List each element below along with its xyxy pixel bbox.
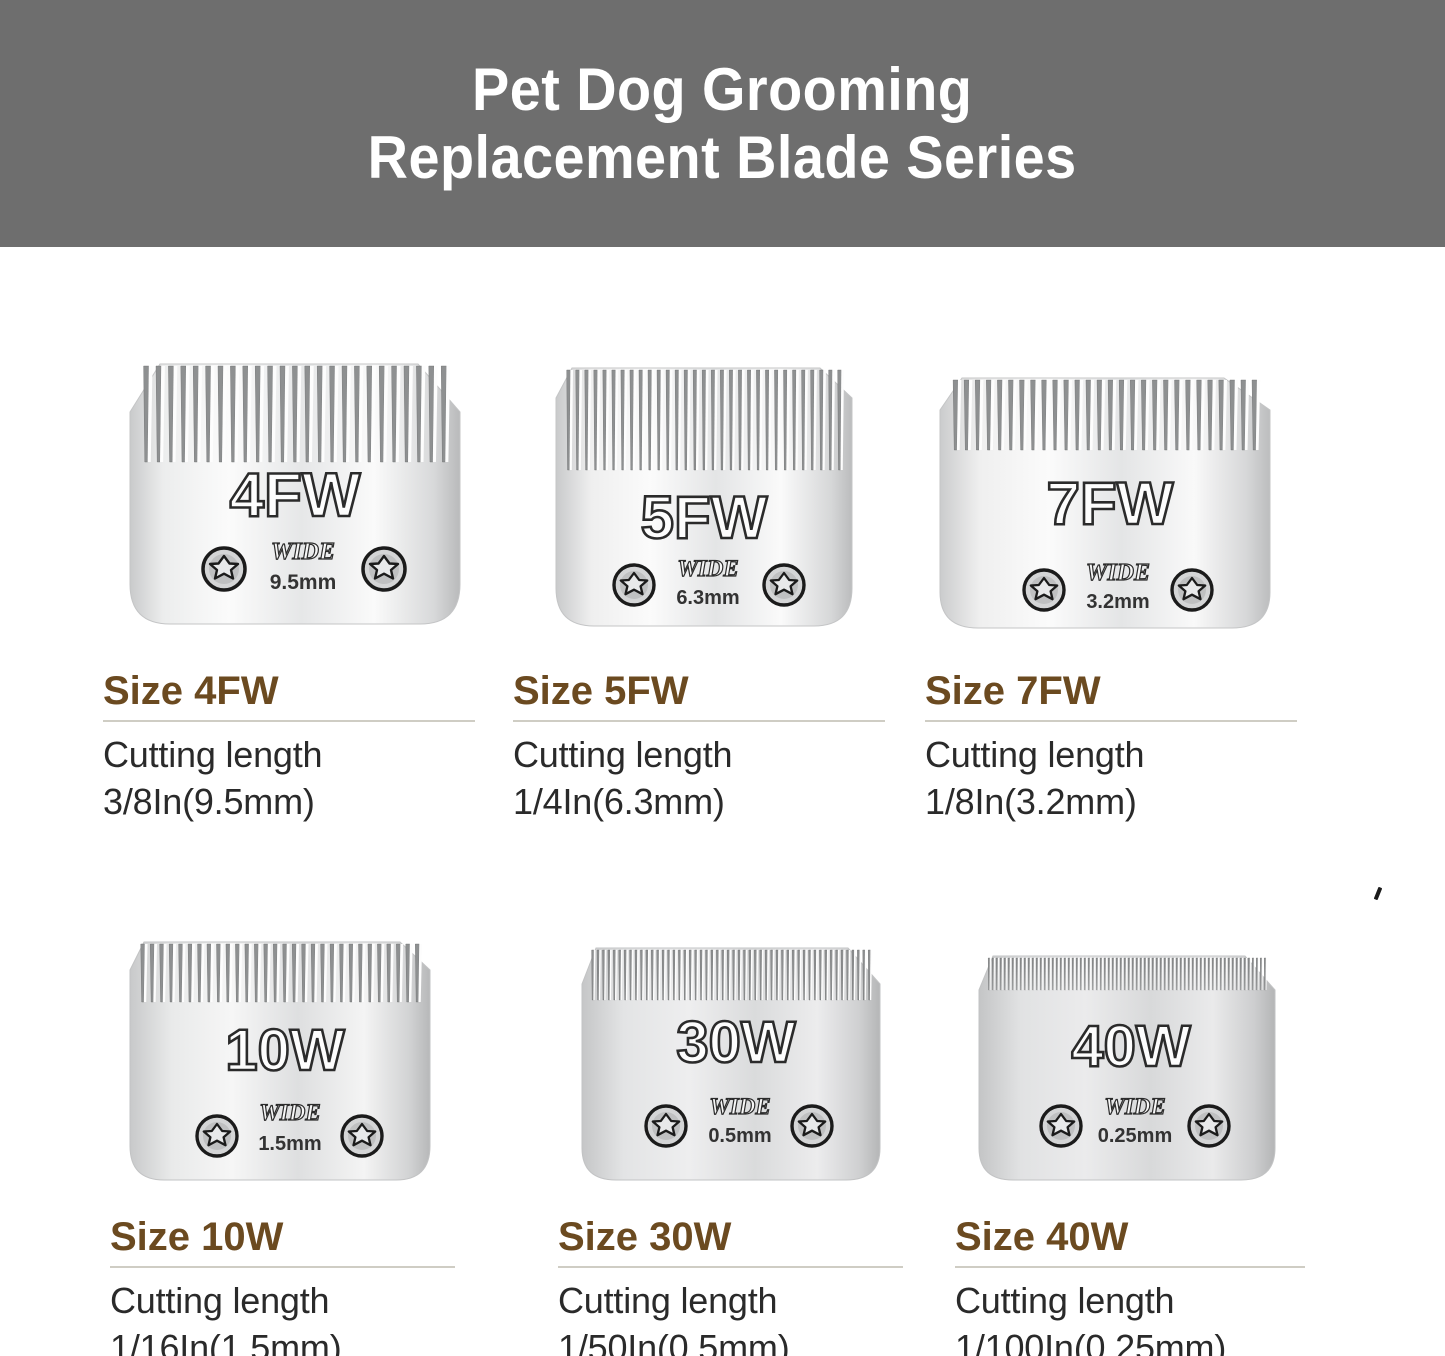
size-title-5fw: Size 5FW bbox=[513, 670, 885, 712]
product-cell-7fw[interactable]: 7FW WIDE 3.2mm Size 7FW bbox=[920, 352, 1320, 644]
blade-code-stamp-7fw: 7FW bbox=[1047, 470, 1174, 537]
product-cell-5fw[interactable]: 5FW WIDE 6.3mm Size 5FW bbox=[508, 352, 908, 644]
blade-illustration-7fw: 7FW WIDE 3.2mm bbox=[920, 352, 1310, 644]
mm-stamp-7fw: 3.2mm bbox=[1086, 591, 1149, 613]
cutting-length-label-30w: Cutting length bbox=[558, 1278, 903, 1325]
mm-stamp-10w: 1.5mm bbox=[258, 1133, 321, 1155]
blade-image-40w: 40W WIDE 0.25mm bbox=[945, 928, 1345, 1198]
caption-40w: Size 40W Cutting length 1/100In(0.25mm) bbox=[955, 1216, 1305, 1356]
blade-image-30w: 30W WIDE 0.5mm bbox=[548, 928, 948, 1198]
blade-code-stamp-30w: 30W bbox=[676, 1010, 796, 1075]
blade-illustration-40w: 40W WIDE 0.25mm bbox=[945, 928, 1325, 1198]
cutting-length-value-4fw: 3/8In(9.5mm) bbox=[103, 779, 475, 826]
screw-icon-right-10w bbox=[342, 1116, 382, 1156]
mm-stamp-4fw: 9.5mm bbox=[270, 571, 337, 594]
caption-rule bbox=[110, 1266, 455, 1268]
screw-icon-right-5fw bbox=[764, 565, 804, 605]
blade-image-10w: 10W WIDE 1.5mm bbox=[100, 928, 500, 1198]
cutting-length-label-5fw: Cutting length bbox=[513, 732, 885, 779]
screw-icon-right-40w bbox=[1189, 1106, 1229, 1146]
blade-illustration-4fw: 4FW WIDE 9.5mm bbox=[88, 352, 488, 644]
screw-icon-left-10w bbox=[197, 1116, 237, 1156]
cutting-length-label-40w: Cutting length bbox=[955, 1278, 1305, 1325]
caption-rule bbox=[103, 720, 475, 722]
product-cell-10w[interactable]: 10W WIDE 1.5mm Size 10W bbox=[100, 928, 500, 1198]
product-cell-40w[interactable]: 40W WIDE 0.25mm Size 40W bbox=[945, 928, 1345, 1198]
page-title: Pet Dog Grooming Replacement Blade Serie… bbox=[368, 56, 1077, 190]
size-title-7fw: Size 7FW bbox=[925, 670, 1297, 712]
caption-rule bbox=[925, 720, 1297, 722]
wide-stamp-40w: WIDE bbox=[1104, 1094, 1165, 1119]
blade-illustration-10w: 10W WIDE 1.5mm bbox=[100, 928, 480, 1198]
mm-stamp-30w: 0.5mm bbox=[708, 1125, 771, 1147]
wide-stamp-4fw: WIDE bbox=[271, 539, 335, 565]
caption-rule bbox=[558, 1266, 903, 1268]
screw-icon-right-7fw bbox=[1172, 570, 1212, 610]
caption-4fw: Size 4FW Cutting length 3/8In(9.5mm) bbox=[103, 670, 475, 826]
blade-illustration-5fw: 5FW WIDE 6.3mm bbox=[508, 352, 898, 644]
product-cell-30w[interactable]: 30W WIDE 0.5mm Size 30W bbox=[548, 928, 948, 1198]
cutting-length-value-40w: 1/100In(0.25mm) bbox=[955, 1325, 1305, 1356]
blade-code-stamp-40w: 40W bbox=[1071, 1014, 1191, 1079]
size-title-40w: Size 40W bbox=[955, 1216, 1305, 1258]
caption-7fw: Size 7FW Cutting length 1/8In(3.2mm) bbox=[925, 670, 1297, 826]
wide-stamp-30w: WIDE bbox=[709, 1094, 770, 1119]
header-banner: Pet Dog Grooming Replacement Blade Serie… bbox=[0, 0, 1445, 247]
wide-stamp-7fw: WIDE bbox=[1086, 560, 1150, 586]
product-row-bottom: 10W WIDE 1.5mm Size 10W bbox=[0, 928, 1445, 1228]
blade-image-5fw: 5FW WIDE 6.3mm bbox=[508, 352, 908, 644]
screw-icon-right-4fw bbox=[363, 548, 405, 590]
screw-icon-left-4fw bbox=[203, 548, 245, 590]
cutting-length-value-30w: 1/50In(0.5mm) bbox=[558, 1325, 903, 1356]
caption-5fw: Size 5FW Cutting length 1/4In(6.3mm) bbox=[513, 670, 885, 826]
caption-30w: Size 30W Cutting length 1/50In(0.5mm) bbox=[558, 1216, 903, 1356]
blade-code-stamp-4fw: 4FW bbox=[230, 461, 361, 530]
size-title-30w: Size 30W bbox=[558, 1216, 903, 1258]
blade-illustration-30w: 30W WIDE 0.5mm bbox=[548, 928, 928, 1198]
cutting-length-value-5fw: 1/4In(6.3mm) bbox=[513, 779, 885, 826]
blade-code-stamp-10w: 10W bbox=[225, 1018, 345, 1083]
cutting-length-label-7fw: Cutting length bbox=[925, 732, 1297, 779]
mm-stamp-40w: 0.25mm bbox=[1098, 1125, 1173, 1147]
wide-stamp-10w: WIDE bbox=[259, 1100, 320, 1125]
size-title-10w: Size 10W bbox=[110, 1216, 455, 1258]
blade-image-7fw: 7FW WIDE 3.2mm bbox=[920, 352, 1320, 644]
cutting-length-label-4fw: Cutting length bbox=[103, 732, 475, 779]
product-row-top: 4FW WIDE 9.5mm bbox=[0, 352, 1445, 652]
cutting-length-value-7fw: 1/8In(3.2mm) bbox=[925, 779, 1297, 826]
screw-icon-left-7fw bbox=[1024, 570, 1064, 610]
product-cell-4fw[interactable]: 4FW WIDE 9.5mm bbox=[88, 352, 488, 644]
size-title-4fw: Size 4FW bbox=[103, 670, 475, 712]
caption-10w: Size 10W Cutting length 1/16In(1.5mm) bbox=[110, 1216, 455, 1356]
cutting-length-value-10w: 1/16In(1.5mm) bbox=[110, 1325, 455, 1356]
caption-rule bbox=[513, 720, 885, 722]
cutting-length-label-10w: Cutting length bbox=[110, 1278, 455, 1325]
product-infographic: Pet Dog Grooming Replacement Blade Serie… bbox=[0, 0, 1445, 1356]
blade-image-4fw: 4FW WIDE 9.5mm bbox=[88, 352, 488, 644]
screw-icon-left-40w bbox=[1041, 1106, 1081, 1146]
screw-icon-left-30w bbox=[646, 1106, 686, 1146]
image-artifact-mark bbox=[1374, 887, 1383, 901]
caption-rule bbox=[955, 1266, 1305, 1268]
blade-code-stamp-5fw: 5FW bbox=[641, 484, 768, 551]
mm-stamp-5fw: 6.3mm bbox=[676, 587, 739, 609]
wide-stamp-5fw: WIDE bbox=[677, 556, 738, 581]
screw-icon-left-5fw bbox=[614, 565, 654, 605]
screw-icon-right-30w bbox=[792, 1106, 832, 1146]
